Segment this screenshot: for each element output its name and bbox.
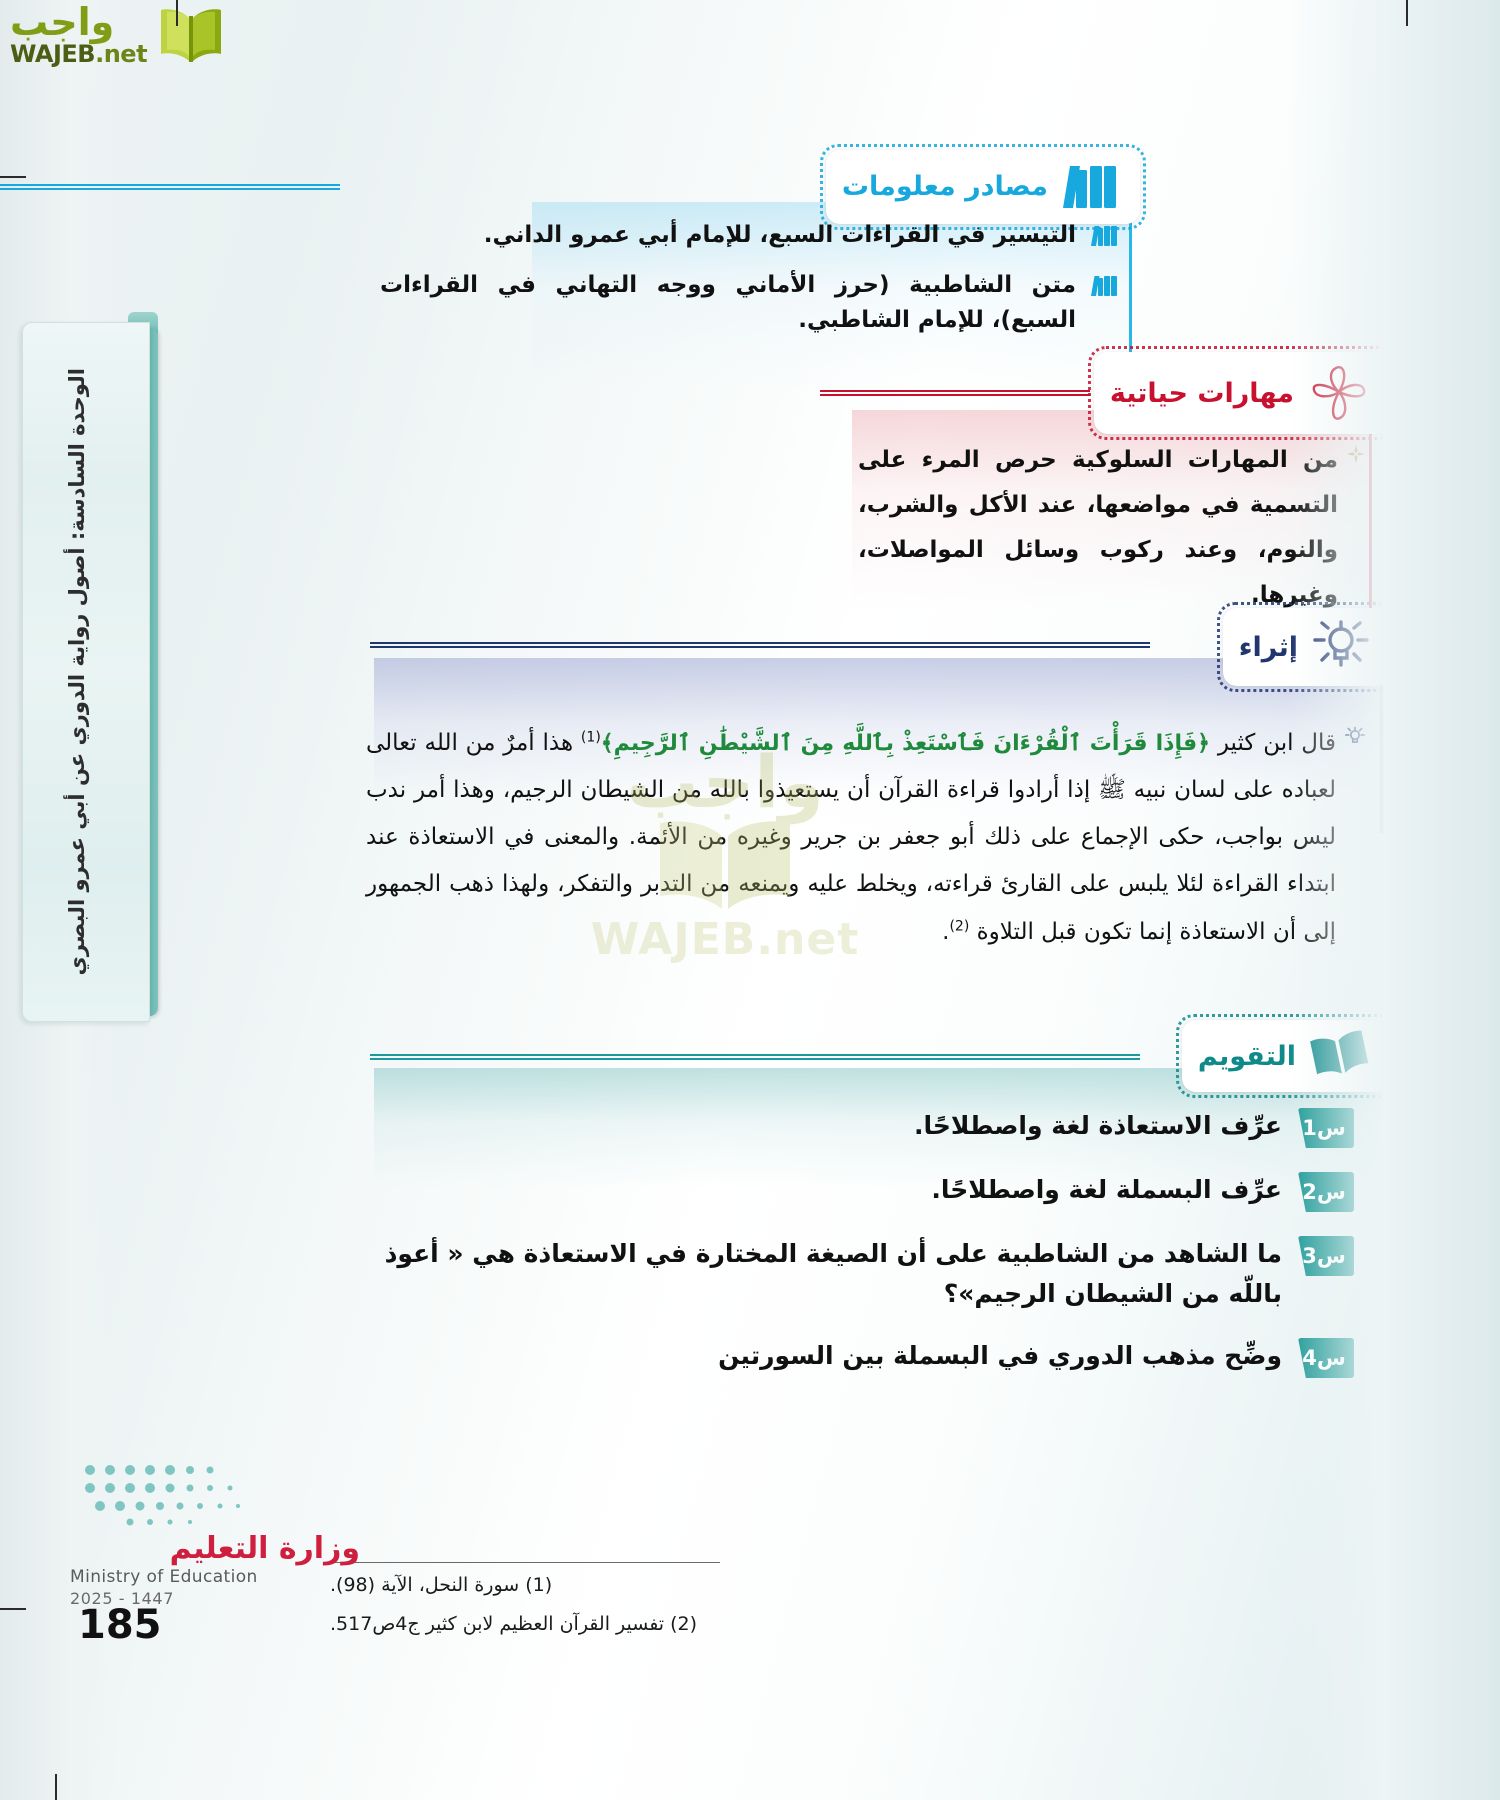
question-row: س1 عرِّف الاستعاذة لغة واصطلاحًا. xyxy=(354,1106,1354,1148)
star-bullet-icon xyxy=(1346,444,1366,464)
skills-badge-wrap: مهارات حياتية xyxy=(1094,352,1390,434)
question-text: عرِّف الاستعاذة لغة واصطلاحًا. xyxy=(354,1106,1282,1146)
sources-badge-wrap: مصادر معلومات xyxy=(826,150,1140,224)
evaluation-divider-rule xyxy=(370,1054,1140,1060)
list-item: متن الشاطبية (حرز الأماني ووجه التهاني ف… xyxy=(380,268,1120,339)
list-item: التيسير في القراءات السبع، للإمام أبي عم… xyxy=(380,218,1120,254)
sources-list: التيسير في القراءات السبع، للإمام أبي عم… xyxy=(380,218,1120,353)
footnote-1: (1) سورة النحل، الآية (98). xyxy=(330,1569,1120,1602)
unit-tab-label: الوحدة السادسة: أصول رواية الدوري عن أبي… xyxy=(65,368,89,976)
lightbulb-bullet-icon xyxy=(1344,726,1366,748)
skills-divider-rule xyxy=(820,390,1090,396)
open-book-icon xyxy=(155,4,227,66)
enrichment-badge-label: إثراء xyxy=(1239,632,1298,663)
tag-shape xyxy=(1298,1172,1354,1212)
evaluation-badge-wrap: التقويم xyxy=(1182,1020,1390,1092)
skills-badge-label: مهارات حياتية xyxy=(1110,378,1294,409)
crop-mark xyxy=(1406,0,1408,26)
crop-mark xyxy=(55,1774,57,1800)
unit-side-tab: الوحدة السادسة: أصول رواية الدوري عن أبي… xyxy=(22,322,150,1022)
dots-decoration xyxy=(80,1460,270,1530)
question-number-tag: س1 xyxy=(1298,1108,1354,1148)
textbook-page: واجب WAJEB.net واجب WAJEB.net الوحدة الس… xyxy=(0,0,1500,1800)
question-text: وضِّح مذهب الدوري في البسملة بين السورتي… xyxy=(354,1336,1282,1376)
open-book-icon xyxy=(650,814,800,914)
center-watermark-arabic: واجب xyxy=(626,750,824,815)
question-text: عرِّف البسملة لغة واصطلاحًا. xyxy=(354,1170,1282,1210)
skills-badge: مهارات حياتية xyxy=(1094,352,1390,434)
enrichment-badge-wrap: إثراء xyxy=(1223,608,1390,686)
question-number-tag: س4 xyxy=(1298,1338,1354,1378)
evaluation-badge-label: التقويم xyxy=(1198,1041,1296,1072)
question-number: س2 xyxy=(1298,1172,1354,1212)
lightbulb-icon xyxy=(1310,618,1372,676)
footnote-2: (2) تفسير القرآن العظيم لابن كثير ج4ص517… xyxy=(330,1608,1120,1641)
question-number: س4 xyxy=(1298,1338,1354,1378)
crop-mark xyxy=(176,0,178,26)
books-bullet-icon xyxy=(1090,274,1120,302)
question-text: ما الشاهد من الشاطبية على أن الصيغة المخ… xyxy=(354,1234,1282,1314)
crop-mark xyxy=(0,1608,26,1610)
center-watermark-english: WAJEB.net xyxy=(591,914,860,965)
wajeb-logo-arabic: واجب xyxy=(10,4,114,40)
question-row: س3 ما الشاهد من الشاطبية على أن الصيغة ا… xyxy=(354,1234,1354,1314)
unit-tab-text-wrap: الوحدة السادسة: أصول رواية الدوري عن أبي… xyxy=(22,322,132,1022)
question-number: س1 xyxy=(1298,1108,1354,1148)
wajeb-logo-text: واجب WAJEB.net xyxy=(10,4,147,65)
source-text: التيسير في القراءات السبع، للإمام أبي عم… xyxy=(484,218,1076,254)
question-number-tag: س3 xyxy=(1298,1236,1354,1276)
tag-shape xyxy=(1298,1236,1354,1276)
body-footnote-ref: (2) xyxy=(949,918,969,934)
sources-badge-label: مصادر معلومات xyxy=(842,172,1048,202)
enrichment-divider-rule xyxy=(370,642,1150,648)
crop-mark xyxy=(0,176,26,178)
page-number: 185 xyxy=(78,1602,162,1648)
question-row: س2 عرِّف البسملة لغة واصطلاحًا. xyxy=(354,1170,1354,1212)
open-book-icon xyxy=(1308,1030,1372,1082)
evaluation-question-list: س1 عرِّف الاستعاذة لغة واصطلاحًا. س2 عرِ… xyxy=(354,1106,1354,1400)
books-icon xyxy=(1060,160,1122,214)
books-bullet-icon xyxy=(1090,224,1120,252)
enrichment-lead: قال ابن كثير xyxy=(1218,730,1336,756)
sources-badge: مصادر معلومات xyxy=(826,150,1140,224)
evaluation-badge: التقويم xyxy=(1182,1020,1390,1092)
section-information-sources: مصادر معلومات التيسير في القراءات السبع،… xyxy=(340,150,1140,224)
question-number: س3 xyxy=(1298,1236,1354,1276)
footnotes-block: (1) سورة النحل، الآية (98). (2) تفسير ال… xyxy=(330,1562,1120,1642)
tag-shape xyxy=(1298,1338,1354,1378)
question-row: س4 وضِّح مذهب الدوري في البسملة بين السو… xyxy=(354,1336,1354,1378)
wajeb-logo-english: WAJEB.net xyxy=(10,42,147,66)
center-watermark: واجب WAJEB.net xyxy=(560,745,890,970)
sources-divider-rule xyxy=(0,184,340,190)
ministry-name-english: Ministry of Education xyxy=(70,1567,360,1587)
flower-icon xyxy=(1306,362,1372,424)
question-number-tag: س2 xyxy=(1298,1172,1354,1212)
tag-shape xyxy=(1298,1108,1354,1148)
life-skills-body: من المهارات السلوكية حرص المرء على التسم… xyxy=(858,438,1338,617)
ayah-footnote-ref: (1) xyxy=(581,729,601,745)
wajeb-watermark-logo: واجب WAJEB.net xyxy=(10,4,227,66)
enrichment-badge: إثراء xyxy=(1223,608,1390,686)
source-text: متن الشاطبية (حرز الأماني ووجه التهاني ف… xyxy=(380,268,1076,339)
ministry-name-arabic: وزارة التعليم xyxy=(70,1534,360,1564)
